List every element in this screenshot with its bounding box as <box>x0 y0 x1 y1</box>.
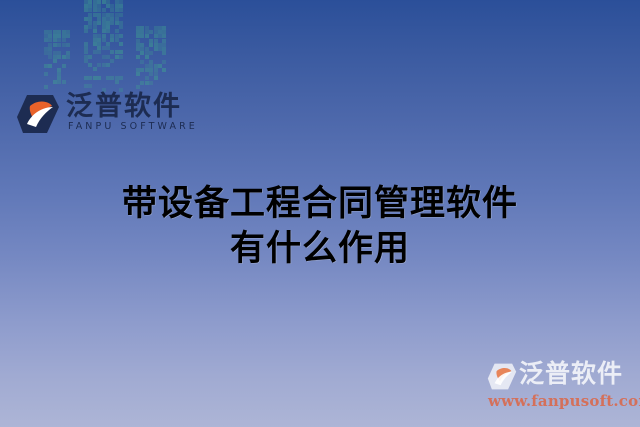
tower-left <box>44 30 70 92</box>
tower-right <box>136 26 166 92</box>
logo-chinese-name: 泛普软件 <box>66 91 182 123</box>
fanpu-hexagon-logo-icon <box>487 363 517 390</box>
pixel-skyline-decoration <box>44 0 184 92</box>
fanpu-logo: 泛普软件 FANPU SOFTWARE <box>16 94 176 140</box>
watermark-url: www.fanpusoft.com <box>488 392 640 410</box>
page-title-line-1: 带设备工程合同管理软件 <box>0 182 640 227</box>
page-title: 带设备工程合同管理软件 有什么作用 <box>0 182 640 272</box>
fanpu-hexagon-logo-icon <box>16 94 60 134</box>
watermark-chinese-name: 泛普软件 <box>519 359 623 389</box>
watermark: 泛普软件 www.fanpusoft.com <box>487 359 632 415</box>
promo-banner: 泛普软件 FANPU SOFTWARE 带设备工程合同管理软件 有什么作用 泛普… <box>0 0 640 427</box>
logo-english-name: FANPU SOFTWARE <box>68 121 198 132</box>
tower-center <box>84 0 124 92</box>
page-title-line-2: 有什么作用 <box>0 227 640 272</box>
